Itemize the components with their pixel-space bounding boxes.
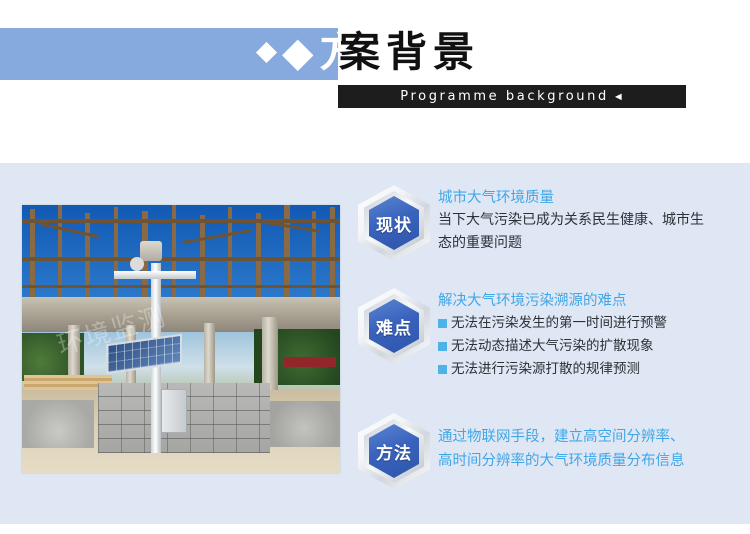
photo-sensor-cup (130, 257, 144, 271)
list-item-label: 无法动态描述大气污染的扩散现象 (451, 335, 654, 358)
hexagon-badge-method: 方法 (358, 413, 430, 489)
info-block-method-line-1: 通过物联网手段，建立高空间分辨率、 (438, 425, 685, 449)
photo-sensor-head (140, 241, 162, 261)
photo-control-box (161, 389, 187, 433)
hexagon-badge-label: 难点 (358, 288, 430, 364)
page-header: ◆方 案背景 Programme background ◄ (0, 0, 750, 163)
info-block-difficulty-title: 解决大气环境污染溯源的难点 (438, 290, 667, 312)
photo-red-canopy (284, 357, 336, 367)
list-item-label: 无法进行污染源打散的规律预测 (451, 358, 640, 381)
info-block-difficulty-list: 无法在污染发生的第一时间进行预警 无法动态描述大气污染的扩散现象 无法进行污染源… (438, 312, 667, 381)
left-triangle-icon: ◄ (613, 91, 624, 103)
info-block-method: 方法 通过物联网手段，建立高空间分辨率、 高时间分辨率的大气环境质量分布信息 (358, 411, 685, 489)
header-subtitle-bar: Programme background ◄ (338, 85, 686, 108)
header-subtitle-en: Programme background (400, 89, 609, 104)
info-block-method-text: 通过物联网手段，建立高空间分辨率、 高时间分辨率的大气环境质量分布信息 (438, 411, 685, 473)
photo-column (204, 323, 215, 389)
monitoring-station-photo: 环境监测 (22, 205, 340, 473)
info-block-method-line-2: 高时间分辨率的大气环境质量分布信息 (438, 449, 685, 473)
hexagon-badge-label: 现状 (358, 185, 430, 261)
square-bullet-icon (438, 342, 447, 351)
info-block-difficulty: 难点 解决大气环境污染溯源的难点 无法在污染发生的第一时间进行预警 无法动态描述… (358, 288, 667, 381)
list-item: 无法在污染发生的第一时间进行预警 (438, 312, 667, 335)
square-bullet-icon (438, 319, 447, 328)
photo-scaffold-rail (22, 285, 340, 288)
list-item-label: 无法在污染发生的第一时间进行预警 (451, 312, 667, 335)
hexagon-badge-label: 方法 (358, 413, 430, 489)
info-block-status-body: 当下大气污染已成为关系民生健康、城市生态的重要问题 (438, 209, 714, 255)
content-panel: 环境监测 现状 城市大气环境质量 当下大气污染已成为关系民生健康、城市生态的重要… (0, 163, 750, 524)
photo-gravel-pile (22, 400, 94, 448)
info-block-status-text: 城市大气环境质量 当下大气污染已成为关系民生健康、城市生态的重要问题 (438, 185, 714, 255)
hexagon-badge-difficulty: 难点 (358, 288, 430, 364)
list-item: 无法动态描述大气污染的扩散现象 (438, 335, 667, 358)
photo-scaffold-rail (22, 257, 340, 261)
list-item: 无法进行污染源打散的规律预测 (438, 358, 667, 381)
info-block-status: 现状 城市大气环境质量 当下大气污染已成为关系民生健康、城市生态的重要问题 (358, 185, 714, 261)
info-block-difficulty-text: 解决大气环境污染溯源的难点 无法在污染发生的第一时间进行预警 无法动态描述大气污… (438, 288, 667, 381)
hexagon-badge-status: 现状 (358, 185, 430, 261)
photo-scaffold-rail (22, 219, 340, 223)
page-title-white-part: 案背景 (339, 22, 480, 82)
photo-station-crossarm (114, 271, 196, 279)
square-bullet-icon (438, 365, 447, 374)
photo-gravel-pile (268, 401, 340, 447)
info-block-status-title: 城市大气环境质量 (438, 187, 714, 209)
